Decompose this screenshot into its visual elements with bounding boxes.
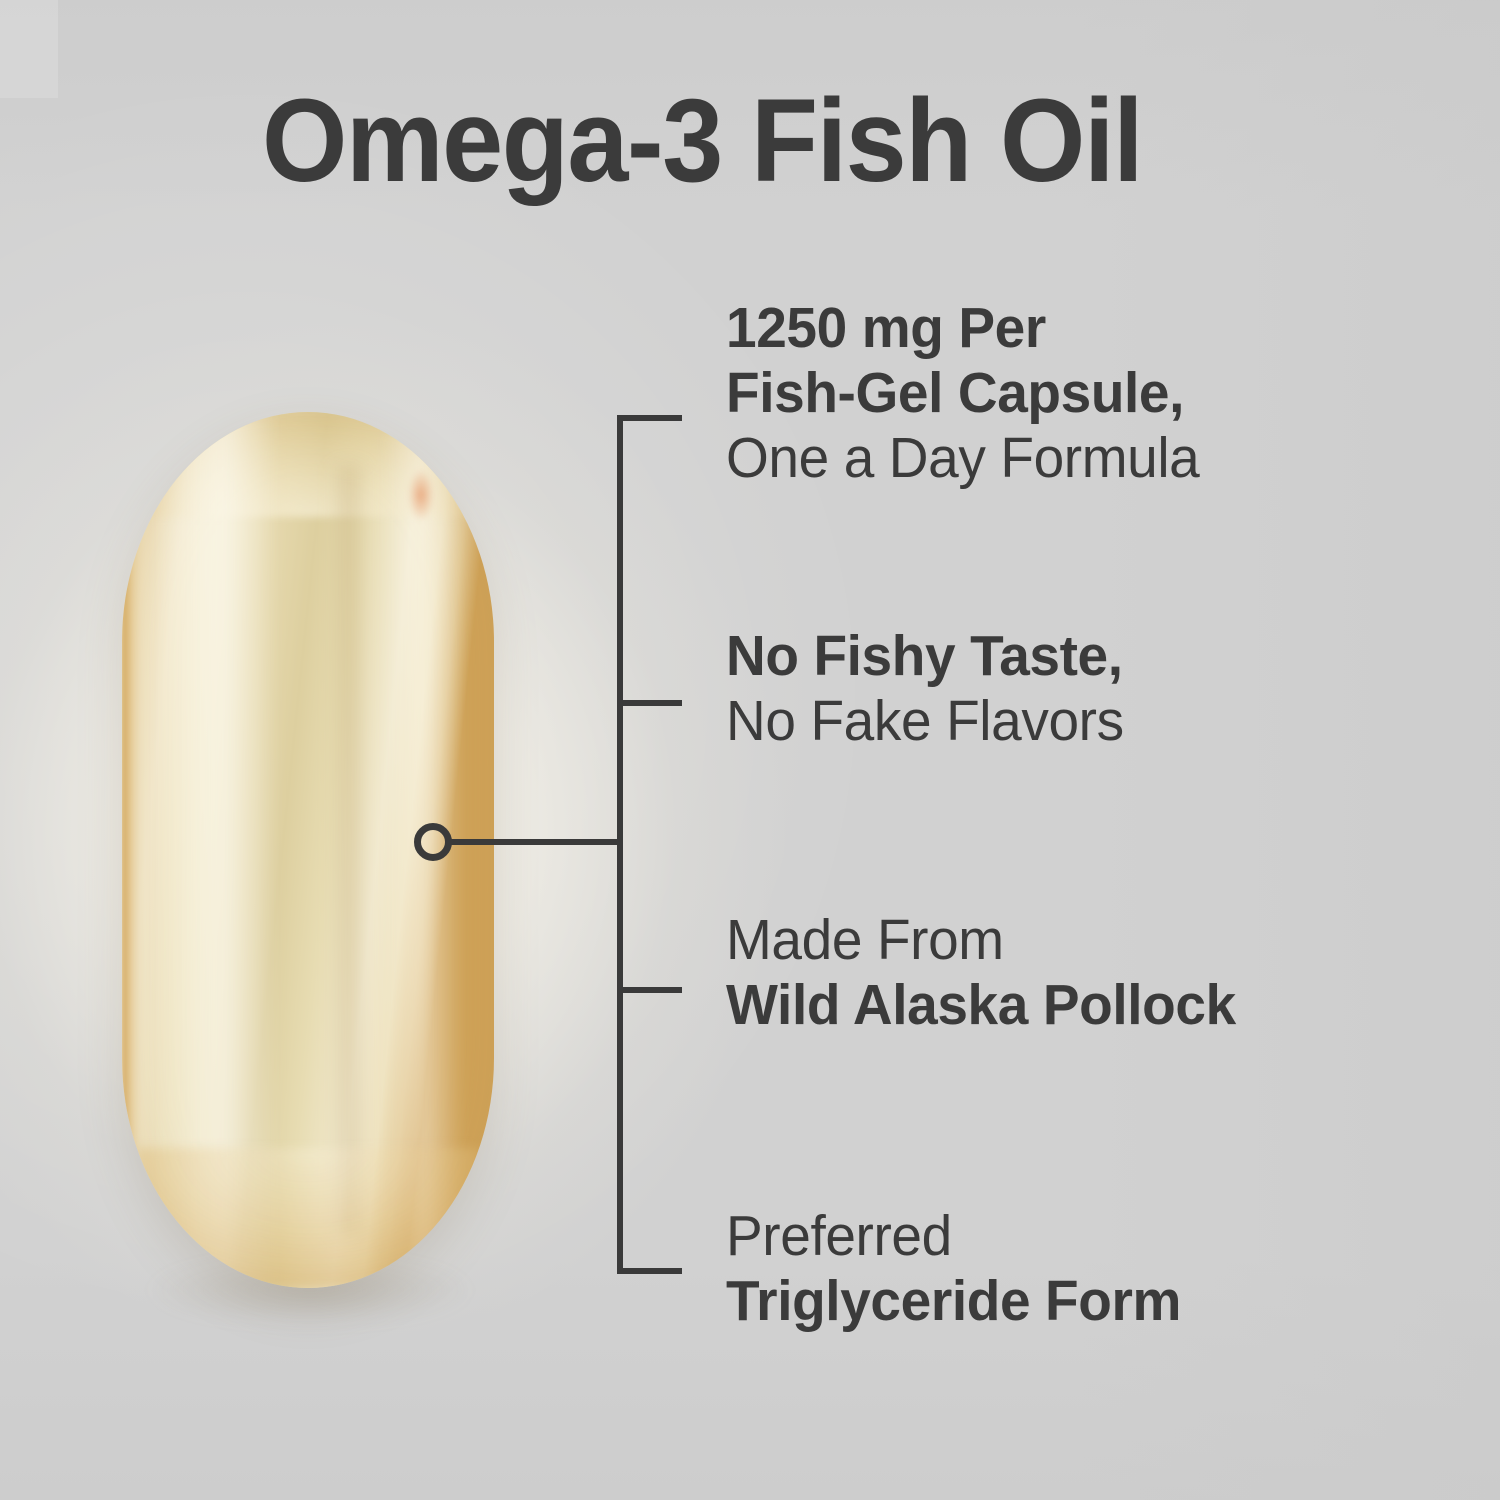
callout-source: Made From Wild Alaska Pollock — [726, 908, 1254, 1038]
callout-form: Preferred Triglyceride Form — [726, 1204, 1198, 1334]
capsule-color-fleck — [408, 469, 434, 521]
callout-line: Triglyceride Form — [726, 1269, 1181, 1334]
capsule-highlight-secondary — [382, 430, 464, 1271]
capsule-body — [122, 412, 494, 1288]
callout-line: No Fake Flavors — [726, 689, 1124, 754]
callout-line: 1250 mg Per — [726, 296, 1199, 361]
fish-oil-softgel-capsule — [122, 412, 494, 1288]
page-title: Omega-3 Fish Oil — [262, 78, 1142, 205]
callout-line: Fish-Gel Capsule, — [726, 361, 1199, 426]
callout-line: One a Day Formula — [726, 426, 1199, 491]
callout-dosage: 1250 mg Per Fish-Gel Capsule, One a Day … — [726, 296, 1217, 491]
callout-line: Wild Alaska Pollock — [726, 973, 1236, 1038]
capsule-left-rim — [122, 447, 141, 1253]
product-infographic: Omega-3 Fish Oil 1250 mg Per Fish-Gel Ca… — [0, 0, 1500, 1500]
capsule-inner-crease — [330, 465, 367, 1236]
capsule-bottom-end — [137, 1148, 479, 1288]
callout-taste: No Fishy Taste, No Fake Flavors — [726, 624, 1138, 754]
corner-light-patch — [0, 0, 58, 98]
callout-line: Preferred — [726, 1204, 1181, 1269]
callout-line: Made From — [726, 908, 1236, 973]
callout-line: No Fishy Taste, — [726, 624, 1124, 689]
